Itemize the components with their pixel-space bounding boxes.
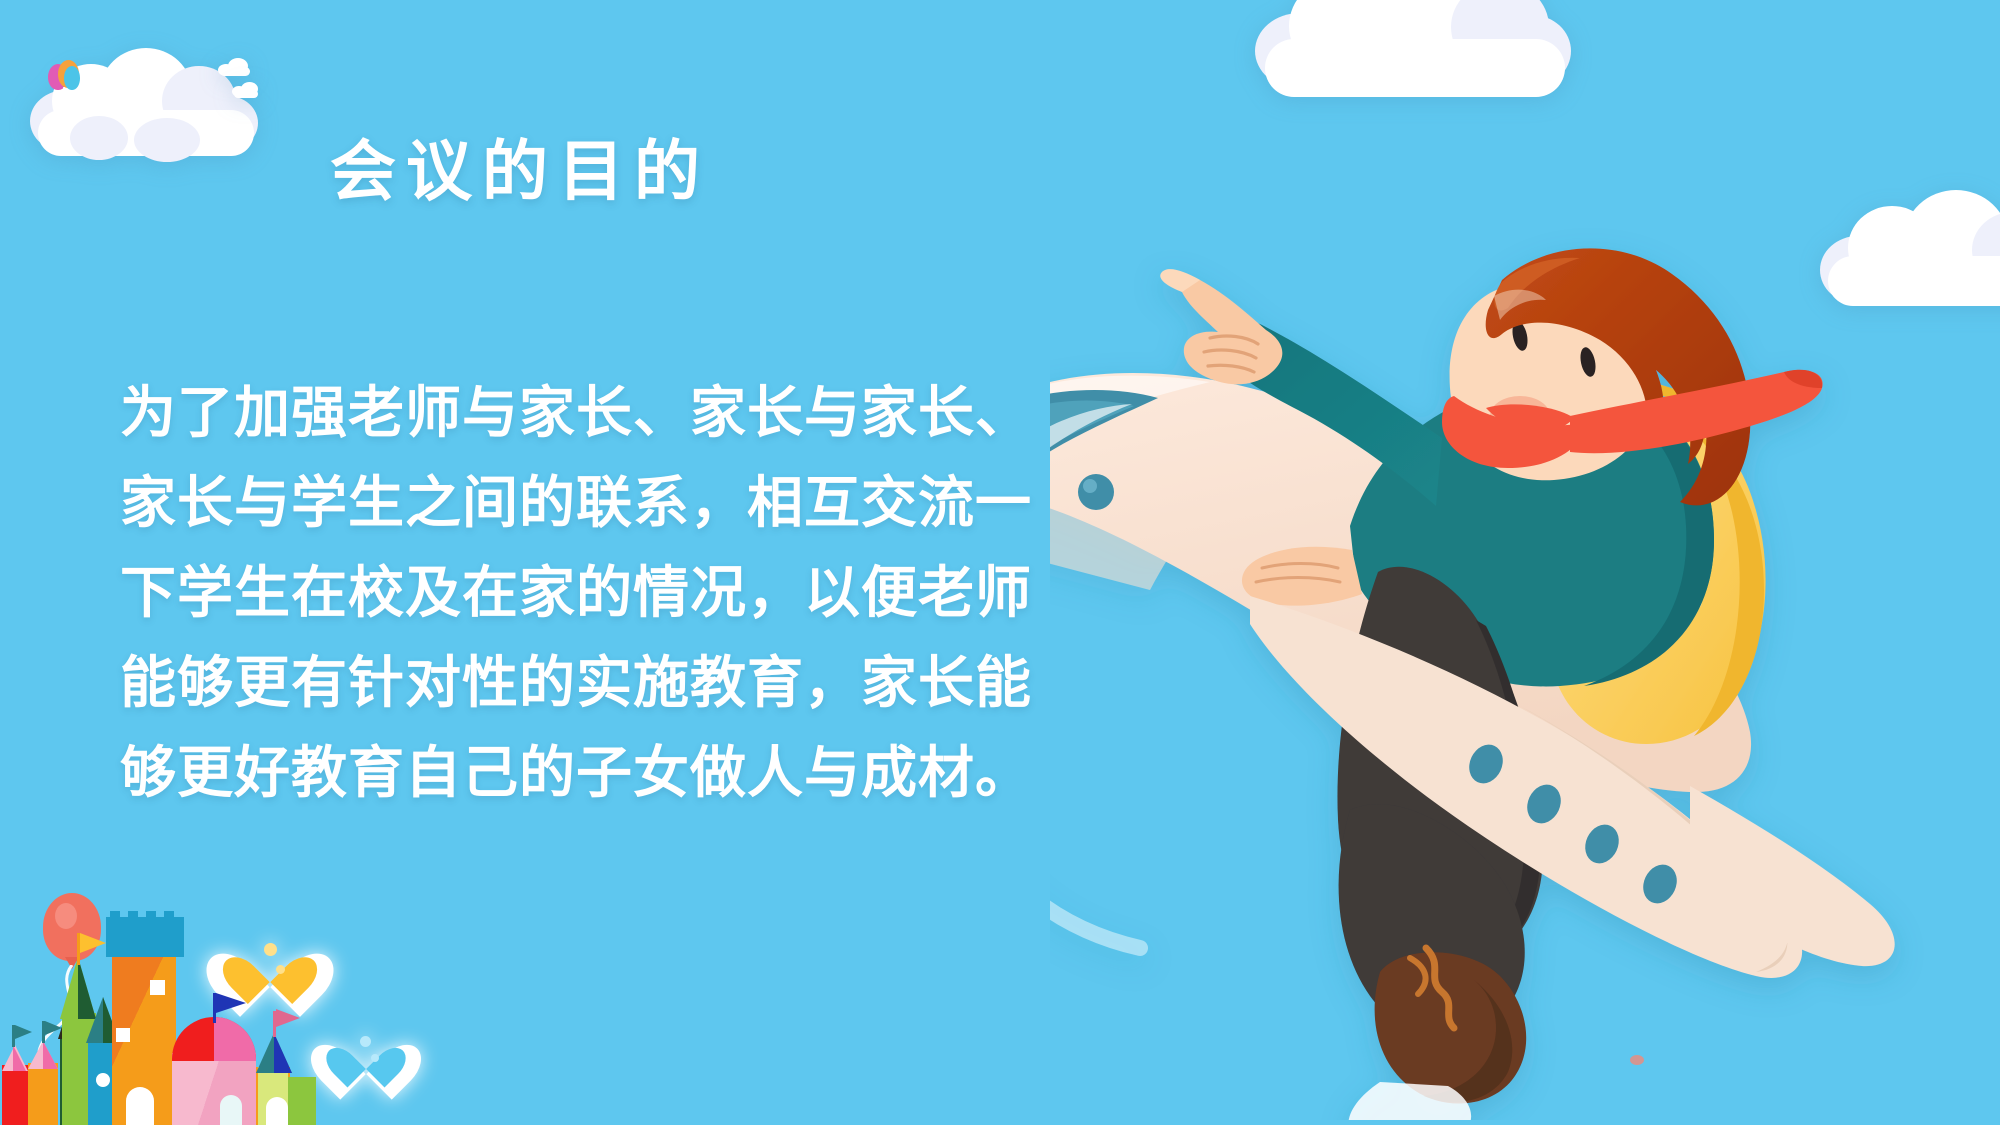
slide-canvas: 会议的目的 为了加强老师与家长、家长与家长、 家长与学生之间的联系，相互交流一 … <box>0 0 2000 1125</box>
page-title: 会议的目的 <box>330 118 710 214</box>
confetti-dot <box>1630 1055 1644 1065</box>
body-line: 下学生在校及在家的情况，以便老师 <box>120 548 1080 638</box>
castle-icon <box>0 865 430 1125</box>
body-line: 够更好教育自己的子女做人与成材。 <box>120 728 1080 818</box>
body-paragraph: 为了加强老师与家长、家长与家长、 家长与学生之间的联系，相互交流一 下学生在校及… <box>120 368 1080 818</box>
title-row: 会议的目的 <box>0 40 1100 190</box>
body-line: 家长与学生之间的联系，相互交流一 <box>120 458 1080 548</box>
girl-riding-airplane <box>1050 120 2000 1120</box>
body-line: 能够更有针对性的实施教育，家长能 <box>120 638 1080 728</box>
body-line: 为了加强老师与家长、家长与家长、 <box>120 368 1080 458</box>
cloud-icon <box>1255 0 1575 100</box>
